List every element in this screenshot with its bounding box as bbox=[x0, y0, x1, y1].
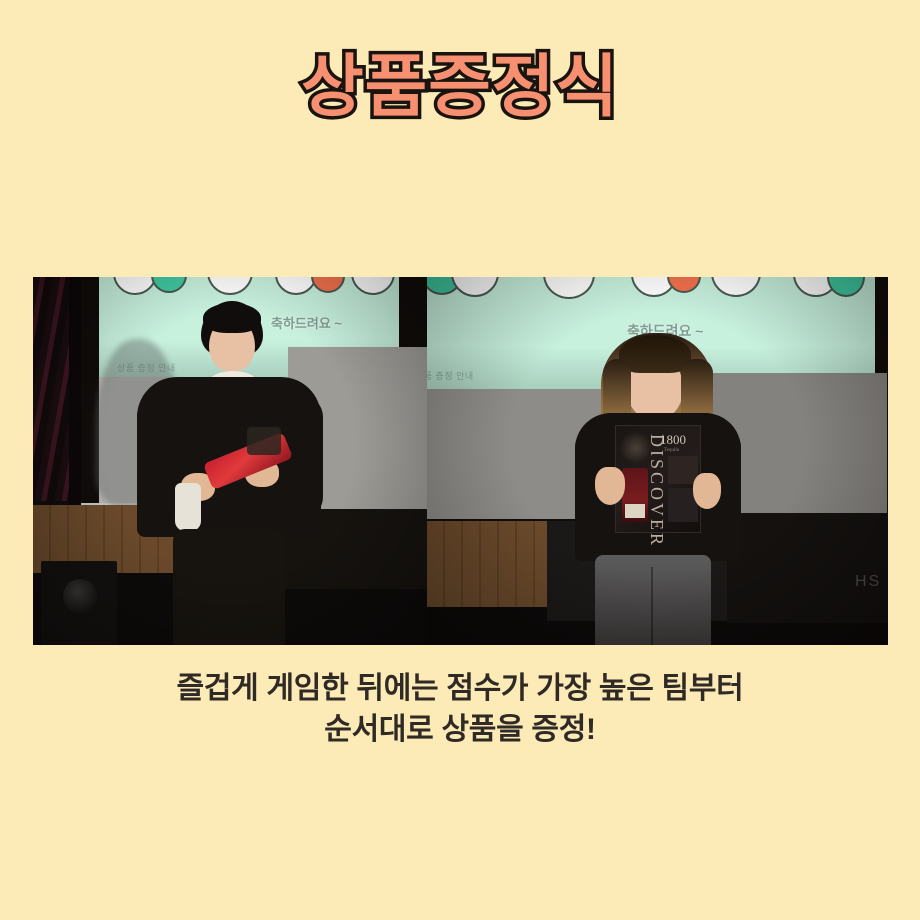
balloon-orange bbox=[311, 277, 345, 293]
balloon-green bbox=[827, 277, 865, 297]
speaker-cone bbox=[63, 579, 97, 613]
hand-right bbox=[693, 473, 721, 509]
caption-line-1: 즐겁게 게임한 뒤에는 점수가 가장 높은 팀부터 bbox=[0, 668, 920, 709]
screen-message-left: 축하드려요 ~ bbox=[271, 313, 342, 332]
dark-panel-right bbox=[727, 513, 888, 623]
gift-sunburst bbox=[620, 432, 652, 464]
balloon-white bbox=[113, 277, 157, 295]
photo-left: 축하드려요 ~ 상품 증정 안내 bbox=[33, 277, 427, 645]
trousers bbox=[173, 529, 285, 645]
promo-card: 상품증정식 축하드려요 ~ 상품 증정 안내 bbox=[0, 0, 920, 920]
balloon-white bbox=[711, 277, 761, 297]
tissue bbox=[175, 483, 201, 531]
hand-left bbox=[595, 467, 625, 505]
page-title: 상품증정식 bbox=[301, 52, 619, 123]
balloon-white bbox=[351, 277, 395, 295]
balloon-green bbox=[151, 277, 187, 293]
caption-block: 즐겁게 게임한 뒤에는 점수가 가장 높은 팀부터 순서대로 상품을 증정! bbox=[0, 668, 920, 751]
sweatshirt-emblem bbox=[247, 427, 281, 455]
jeans-seam bbox=[651, 567, 653, 645]
hair-fringe bbox=[203, 303, 261, 333]
gift-box: 1800 Tequila DISCOVER bbox=[615, 425, 701, 533]
balloon-orange bbox=[667, 277, 701, 293]
balloon-white bbox=[543, 277, 595, 299]
title-block: 상품증정식 bbox=[0, 52, 920, 123]
balloon-decorations-right bbox=[427, 277, 875, 293]
gift-bottle-label bbox=[625, 504, 645, 518]
caption-line-2: 순서대로 상품을 증정! bbox=[0, 709, 920, 750]
balloon-white bbox=[207, 277, 253, 295]
gray-jeans bbox=[595, 555, 711, 645]
stage-curtain-fold bbox=[69, 277, 81, 509]
photo-strip: 축하드려요 ~ 상품 증정 안내 bbox=[33, 277, 888, 645]
wood-wainscot-right bbox=[427, 521, 547, 621]
photo-right: 축하드려요 ~ 상품 증정 안내 HS bbox=[427, 277, 888, 645]
balloon-decorations-left bbox=[99, 277, 399, 293]
photo-watermark: HS bbox=[855, 573, 881, 591]
balloon-white bbox=[451, 277, 499, 297]
